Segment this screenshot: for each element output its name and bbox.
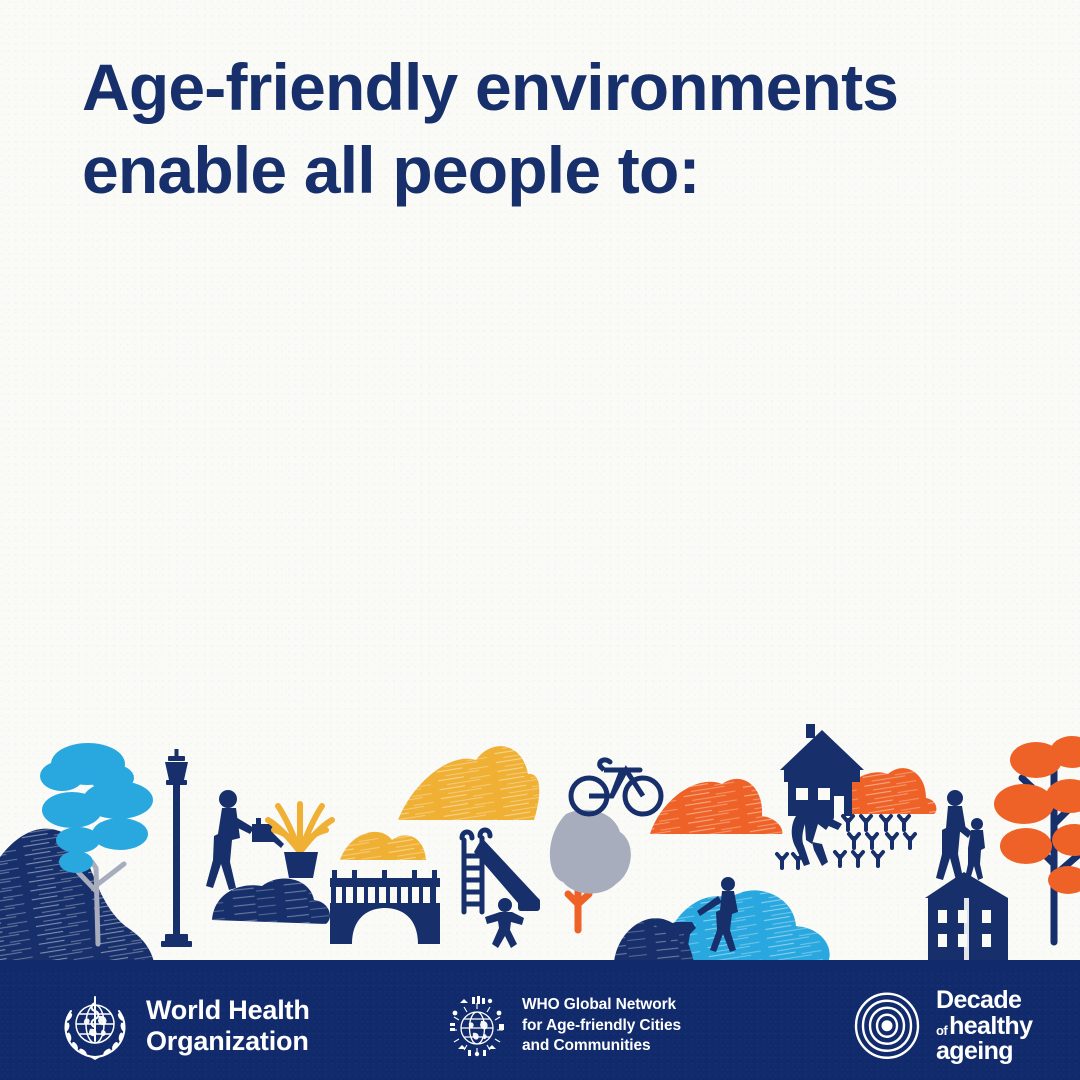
poster-canvas: Age-friendly environments enable all peo… [0,0,1080,1080]
bridge [330,870,440,944]
person-watering-plant [206,790,284,890]
ground-line [0,960,1080,972]
decade-line-3: ageing [936,1039,1032,1065]
tree-grey [550,810,631,930]
apartment-building [925,872,1008,962]
page-title: Age-friendly environments enable all peo… [82,46,982,212]
network-logo-text: WHO Global Network for Age-friendly Citi… [522,995,681,1056]
hill-yellow-small [340,832,426,860]
hill-orange-left [650,779,782,834]
illustration-band [0,712,1080,972]
concentric-rings-icon [852,991,922,1061]
footer-bar: World Health Organization [0,972,1080,1080]
decade-line-1: Decade [936,988,1032,1014]
decade-line-2: healthy [949,1013,1032,1039]
who-emblem-icon [58,989,132,1063]
who-logo-text: World Health Organization [146,995,310,1058]
decade-logo: Decade of healthy ageing [852,988,1032,1065]
network-logo: WHO Global Network for Age-friendly Citi… [446,995,681,1057]
bicycle [571,760,661,814]
decade-logo-text: Decade of healthy ageing [936,988,1032,1065]
street-lamp [161,749,192,947]
house [780,724,864,816]
globe-network-icon [446,995,508,1057]
who-logo: World Health Organization [58,989,310,1063]
adult-with-child [936,790,985,880]
hill-yellow-large [398,746,539,820]
